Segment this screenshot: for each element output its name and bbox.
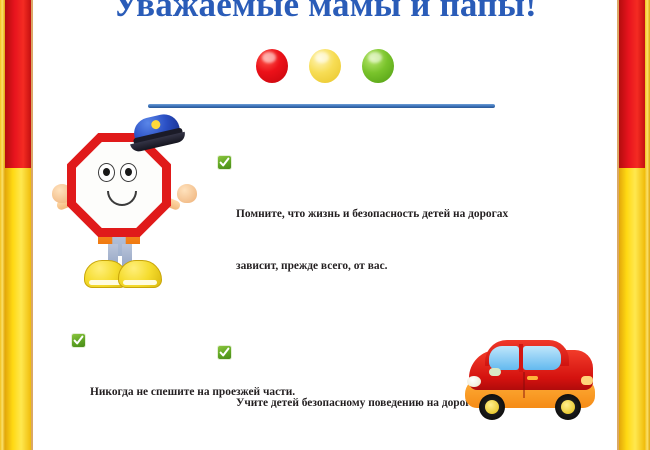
frame-right-inner-rule bbox=[617, 0, 619, 450]
car-rear-wheel bbox=[555, 394, 581, 420]
frame-right-red-bar bbox=[619, 0, 645, 168]
mascot-left-eye bbox=[98, 163, 115, 182]
checkbox-icon bbox=[218, 156, 231, 169]
car-door-pillar bbox=[519, 344, 523, 372]
car-front-wheel bbox=[479, 394, 505, 420]
mascot-right-shoe bbox=[118, 260, 162, 288]
car-door-handle bbox=[527, 376, 538, 380]
list-item-line: Помните, что жизнь и безопасность детей … bbox=[236, 206, 571, 223]
poster-title: Уважаемые мамы и папы! bbox=[33, 0, 617, 24]
car-taillight bbox=[581, 376, 593, 385]
yellow-light-icon bbox=[309, 49, 341, 83]
list-item-line: Никогда не спешите на проезжей части. bbox=[90, 384, 490, 401]
green-light-icon bbox=[362, 49, 394, 83]
traffic-light-row bbox=[33, 49, 617, 83]
list-item-line: зависит, прежде всего, от вас. bbox=[236, 258, 571, 275]
bottom-advice-list: Никогда не спешите на проезжей части. Не… bbox=[90, 298, 490, 450]
car-door-seam bbox=[523, 372, 525, 398]
checkbox-icon bbox=[72, 334, 85, 347]
list-item: Помните, что жизнь и безопасность детей … bbox=[236, 154, 571, 309]
road-safety-poster: Уважаемые мамы и папы! bbox=[0, 0, 650, 450]
mascot-right-hand bbox=[177, 184, 197, 203]
red-light-icon bbox=[256, 49, 288, 83]
poster-page: Уважаемые мамы и папы! bbox=[33, 0, 617, 450]
mascot-right-pupil bbox=[125, 168, 132, 176]
list-item: Никогда не спешите на проезжей части. bbox=[90, 332, 490, 435]
stop-sign-character-illustration bbox=[56, 116, 196, 288]
frame-left-red-bar bbox=[5, 0, 31, 168]
car-front-window bbox=[489, 346, 519, 370]
frame-right-yellow-bar bbox=[619, 168, 645, 450]
car-side-mirror bbox=[489, 368, 501, 376]
red-car-illustration bbox=[463, 338, 599, 420]
mascot-right-eye bbox=[120, 163, 137, 182]
frame-left-yellow-bar bbox=[5, 168, 31, 450]
police-cap-icon bbox=[123, 109, 191, 154]
car-headlight bbox=[467, 376, 481, 387]
car-rear-window bbox=[523, 346, 561, 370]
blue-divider-rule bbox=[148, 104, 495, 108]
frame-right-gold-edge bbox=[645, 0, 650, 450]
mascot-left-pupil bbox=[103, 168, 110, 176]
stop-sign-face bbox=[76, 142, 162, 228]
